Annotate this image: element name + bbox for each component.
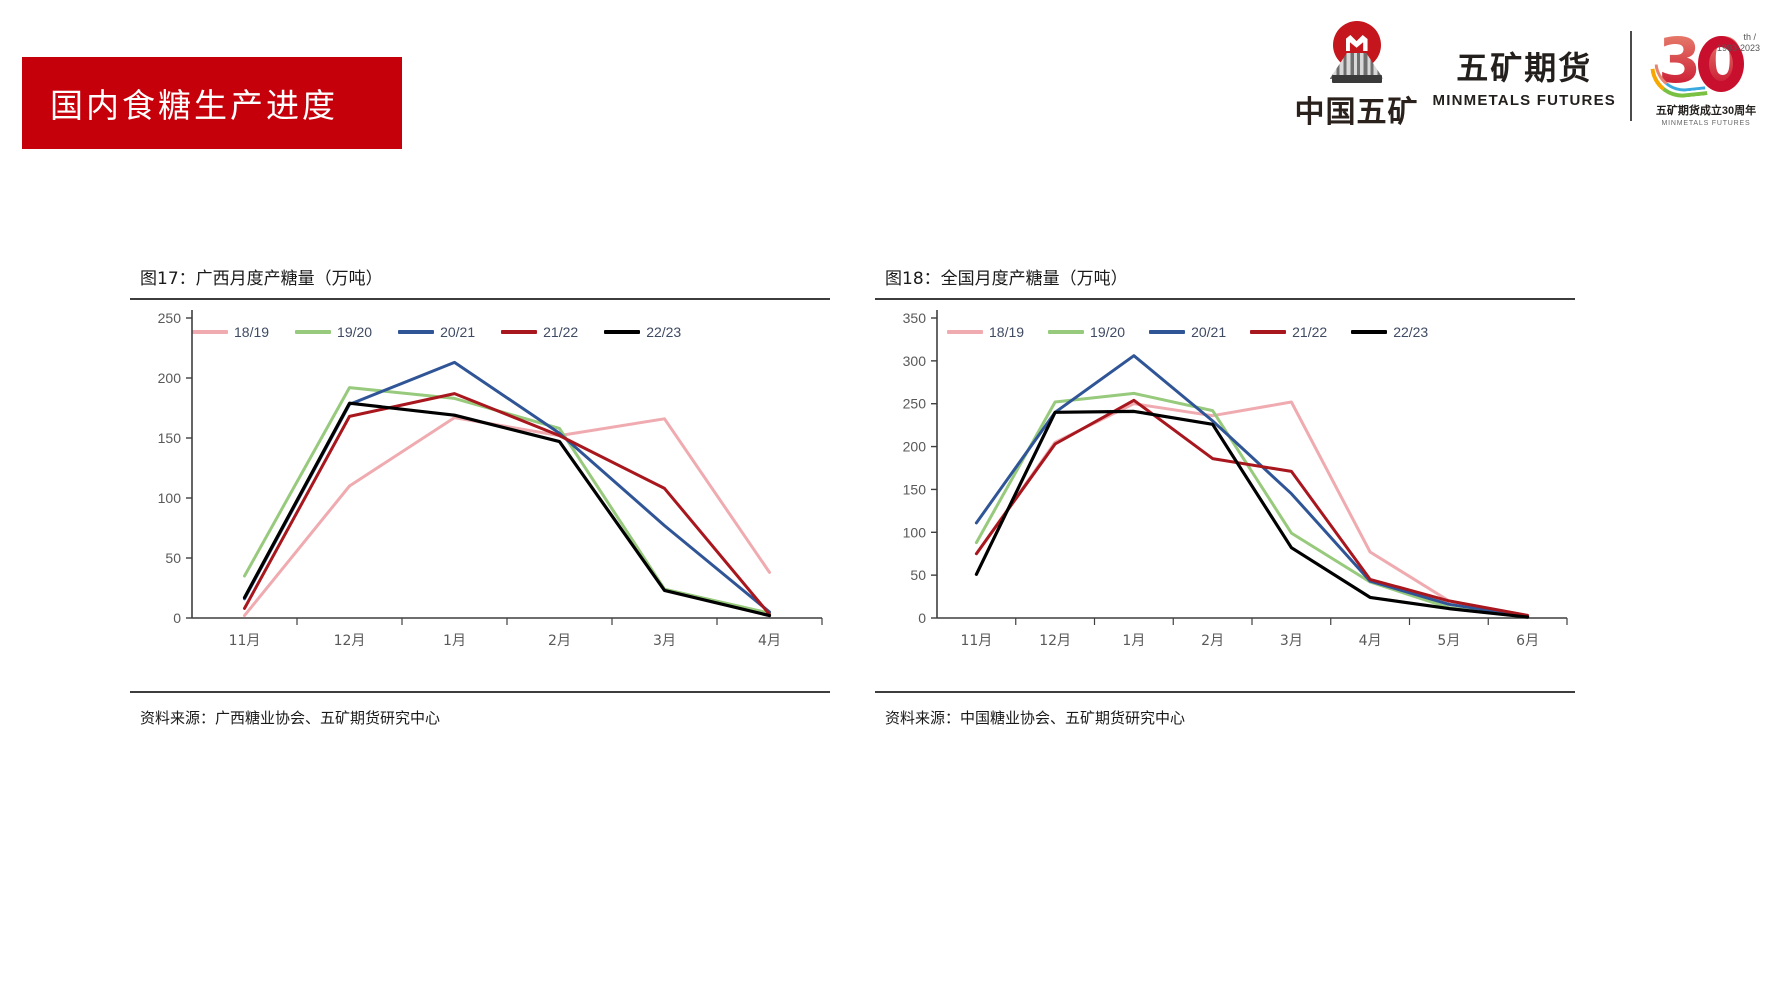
page-title: 国内食糖生产进度 [22,79,338,127]
anniversary-th: th / [1743,32,1756,42]
chart-plot-fig18: 18/1919/2020/2121/2222/23 05010015020025… [875,300,1575,685]
minmetals-emblem-icon [1326,21,1388,83]
x-axis-tick-label: 1月 [443,633,466,649]
chart-panel-fig17: 图17：广西月度产糖量（万吨） 18/1919/2020/2121/2222/2… [130,264,830,728]
anniversary-30-icon: 30 th / 1993-2023 [1652,26,1760,100]
anniversary-logo: 30 th / 1993-2023 五矿期货成立30周年 MINMETALS F… [1646,26,1766,127]
x-axis-tick-label: 1月 [1122,633,1145,649]
y-axis-tick-label: 100 [903,524,927,540]
x-axis-tick-label: 4月 [1359,633,1382,649]
x-axis-tick-label: 12月 [1039,633,1071,649]
x-axis-tick-label: 12月 [334,633,366,649]
y-axis-tick-label: 0 [918,610,926,626]
y-axis-tick-label: 200 [903,439,927,455]
y-axis-tick-label: 0 [173,610,181,626]
chart-plot-fig17: 18/1919/2020/2121/2222/23 05010015020025… [130,300,830,685]
anniversary-caption-en: MINMETALS FUTURES [1662,120,1751,127]
minmetals-futures-cn: 五矿期货 [1456,43,1592,89]
chart-source-fig18: 资料来源：中国糖业协会、五矿期货研究中心 [875,693,1575,728]
y-axis-tick-label: 50 [910,567,926,583]
x-axis-tick-label: 3月 [1280,633,1303,649]
y-axis-tick-label: 250 [903,396,927,412]
chart-panel-fig18: 图18：全国月度产糖量（万吨） 18/1919/2020/2121/2222/2… [875,264,1575,728]
x-axis-tick-label: 6月 [1516,633,1539,649]
x-axis-tick-label: 2月 [548,633,571,649]
anniversary-caption-cn: 五矿期货成立30周年 [1656,102,1756,118]
y-axis-tick-label: 300 [903,353,927,369]
y-axis-tick-label: 100 [158,490,182,506]
x-axis-tick-label: 11月 [229,633,261,649]
series-line-20-21 [245,362,770,612]
y-axis-tick-label: 250 [158,310,182,326]
y-axis-tick-label: 50 [165,550,181,566]
x-axis-tick-label: 2月 [1201,633,1224,649]
y-axis-tick-label: 200 [158,370,182,386]
series-line-21-22 [976,400,1527,615]
series-line-18-19 [976,402,1527,616]
x-axis-tick-label: 4月 [758,633,781,649]
page-title-banner: 国内食糖生产进度 [22,57,402,149]
chart-svg-fig18: 05010015020025030035011月12月1月2月3月4月5月6月 [875,300,1575,685]
x-axis-tick-label: 3月 [653,633,676,649]
y-axis-tick-label: 150 [158,430,182,446]
logo-divider [1630,31,1632,121]
y-axis-tick-label: 350 [903,310,927,326]
chart-title-fig18: 图18：全国月度产糖量（万吨） [875,264,1575,298]
anniversary-years: 1993-2023 [1717,43,1760,53]
minmetals-futures-en: MINMETALS FUTURES [1433,92,1616,109]
minmetals-futures-logo: 五矿期货 MINMETALS FUTURES [1433,43,1616,109]
chart-source-fig17: 资料来源：广西糖业协会、五矿期货研究中心 [130,693,830,728]
y-axis-tick-label: 150 [903,481,927,497]
x-axis-tick-label: 11月 [960,633,992,649]
minmetals-group-name: 中国五矿 [1295,87,1419,131]
series-line-19-20 [976,393,1527,617]
minmetals-group-logo: 中国五矿 [1295,21,1419,131]
x-axis-tick-label: 5月 [1437,633,1460,649]
series-line-19-20 [245,388,770,614]
chart-svg-fig17: 05010015020025011月12月1月2月3月4月 [130,300,830,685]
chart-title-fig17: 图17：广西月度产糖量（万吨） [130,264,830,298]
series-line-18-19 [245,418,770,616]
brand-logo-bar: 中国五矿 五矿期货 MINMETALS FUTURES 30 th / 1993… [1295,12,1766,140]
